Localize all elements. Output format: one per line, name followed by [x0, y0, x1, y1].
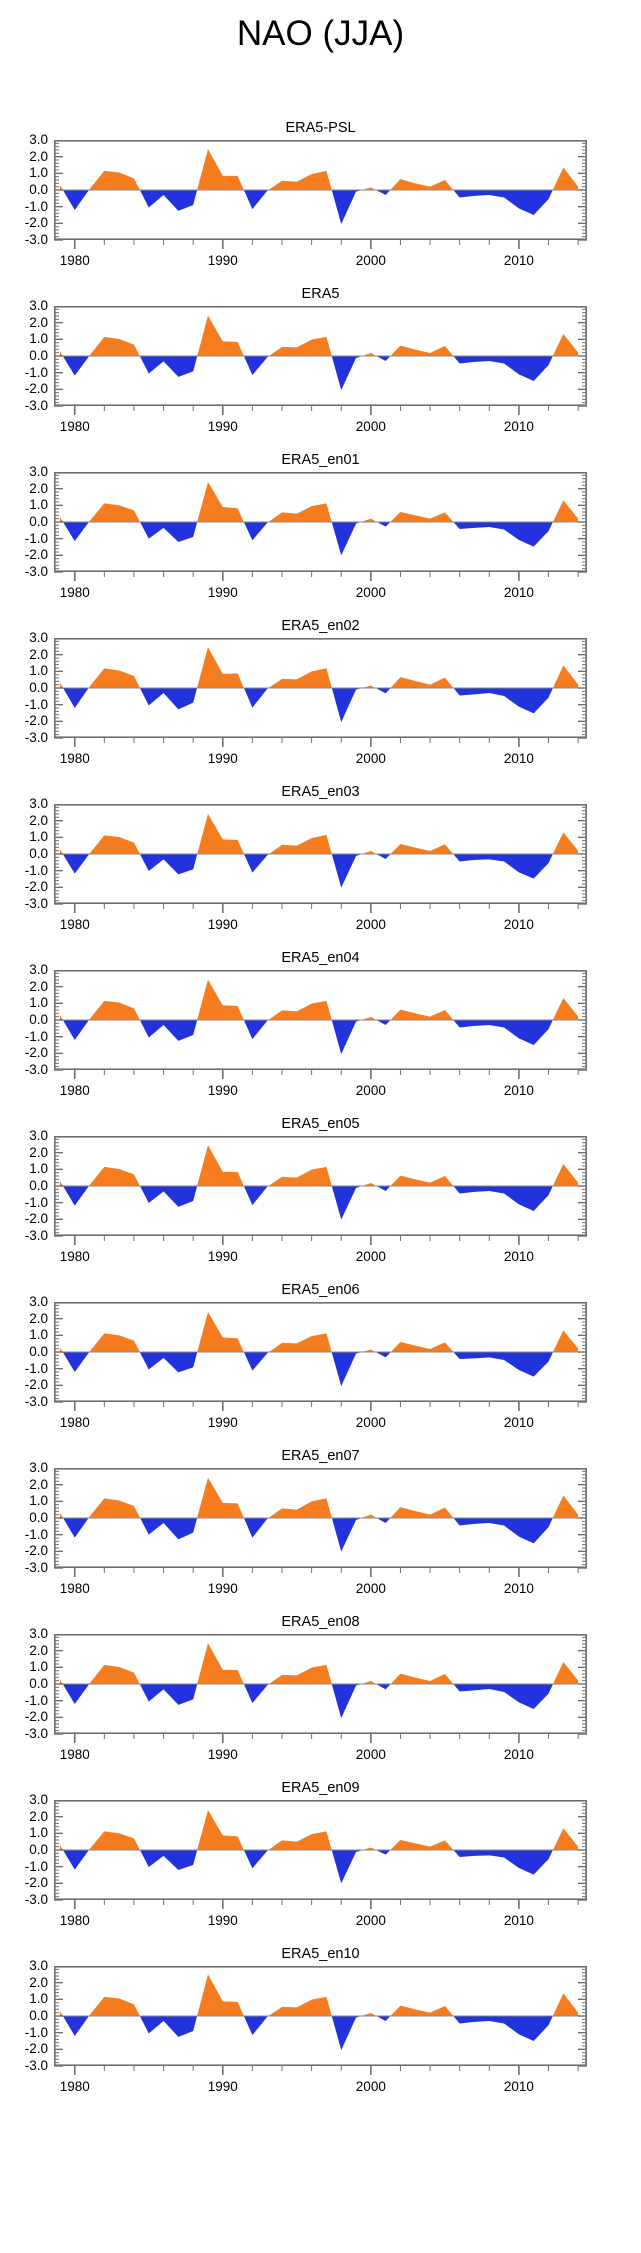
y-tick-label: -1.0 — [0, 366, 48, 379]
y-tick-label: -2.0 — [0, 216, 48, 229]
panel-title: ERA5_en02 — [0, 618, 641, 634]
y-tick-label: 3.0 — [0, 631, 48, 644]
x-tick-label: 2000 — [341, 586, 401, 600]
x-tick-label: 1990 — [193, 1416, 253, 1430]
y-tick-label: -3.0 — [0, 897, 48, 910]
y-tick-label: -2.0 — [0, 382, 48, 395]
timeseries-panel: ERA5-PSL3.02.01.00.0-1.0-2.0-3.019801990… — [0, 120, 641, 280]
plot-area: 3.02.01.00.0-1.0-2.0-3.01980199020002010 — [0, 140, 641, 280]
y-tick-label: 1.0 — [0, 830, 48, 843]
y-tick-label: 1.0 — [0, 1328, 48, 1341]
panel-title: ERA5_en04 — [0, 950, 641, 966]
plot-area: 3.02.01.00.0-1.0-2.0-3.01980199020002010 — [0, 1966, 641, 2106]
timeseries-panel: ERA5_en103.02.01.00.0-1.0-2.0-3.01980199… — [0, 1946, 641, 2106]
x-tick-label: 1990 — [193, 2080, 253, 2094]
y-tick-label: -2.0 — [0, 714, 48, 727]
x-tick-label: 1980 — [45, 1914, 105, 1928]
panel-title: ERA5_en08 — [0, 1614, 641, 1630]
x-tick-label: 1990 — [193, 1084, 253, 1098]
y-tick-label: 2.0 — [0, 1976, 48, 1989]
y-tick-label: -1.0 — [0, 2026, 48, 2039]
timeseries-panel: ERA53.02.01.00.0-1.0-2.0-3.0198019902000… — [0, 286, 641, 446]
timeseries-panel: ERA5_en093.02.01.00.0-1.0-2.0-3.01980199… — [0, 1780, 641, 1940]
y-tick-label: -3.0 — [0, 1063, 48, 1076]
timeseries-panel: ERA5_en063.02.01.00.0-1.0-2.0-3.01980199… — [0, 1282, 641, 1442]
y-tick-label: 2.0 — [0, 1312, 48, 1325]
x-tick-label: 2000 — [341, 752, 401, 766]
y-tick-label: -3.0 — [0, 399, 48, 412]
x-tick-label: 1980 — [45, 2080, 105, 2094]
panel-title: ERA5_en07 — [0, 1448, 641, 1464]
x-tick-label: 1990 — [193, 1748, 253, 1762]
panel-title: ERA5_en03 — [0, 784, 641, 800]
y-tick-label: 2.0 — [0, 1644, 48, 1657]
y-tick-label: -2.0 — [0, 548, 48, 561]
y-tick-label: -3.0 — [0, 1893, 48, 1906]
x-tick-label: 1990 — [193, 1250, 253, 1264]
x-tick-label: 1990 — [193, 1582, 253, 1596]
y-tick-label: -1.0 — [0, 1030, 48, 1043]
x-tick-label: 2010 — [489, 1416, 549, 1430]
x-tick-label: 2000 — [341, 1250, 401, 1264]
y-tick-label: 0.0 — [0, 1345, 48, 1358]
y-tick-label: -2.0 — [0, 1212, 48, 1225]
x-tick-label: 2010 — [489, 752, 549, 766]
y-tick-label: -3.0 — [0, 1395, 48, 1408]
x-tick-label: 2010 — [489, 420, 549, 434]
plot-area: 3.02.01.00.0-1.0-2.0-3.01980199020002010 — [0, 970, 641, 1110]
y-tick-label: 0.0 — [0, 681, 48, 694]
x-tick-label: 2010 — [489, 586, 549, 600]
y-tick-label: -1.0 — [0, 200, 48, 213]
y-tick-label: -3.0 — [0, 565, 48, 578]
y-tick-label: 1.0 — [0, 1162, 48, 1175]
y-tick-label: 2.0 — [0, 1810, 48, 1823]
plot-area: 3.02.01.00.0-1.0-2.0-3.01980199020002010 — [0, 1136, 641, 1276]
panel-title: ERA5_en01 — [0, 452, 641, 468]
x-tick-label: 2000 — [341, 254, 401, 268]
x-tick-label: 2000 — [341, 2080, 401, 2094]
plot-area: 3.02.01.00.0-1.0-2.0-3.01980199020002010 — [0, 804, 641, 944]
panel-title: ERA5_en06 — [0, 1282, 641, 1298]
x-tick-label: 1980 — [45, 1582, 105, 1596]
y-tick-label: -2.0 — [0, 1710, 48, 1723]
y-tick-label: 3.0 — [0, 299, 48, 312]
y-tick-label: -2.0 — [0, 1046, 48, 1059]
x-tick-label: 1980 — [45, 752, 105, 766]
x-tick-label: 1990 — [193, 420, 253, 434]
y-tick-label: 1.0 — [0, 996, 48, 1009]
x-tick-label: 1990 — [193, 586, 253, 600]
panel-title: ERA5_en09 — [0, 1780, 641, 1796]
plot-area: 3.02.01.00.0-1.0-2.0-3.01980199020002010 — [0, 638, 641, 778]
plot-area: 3.02.01.00.0-1.0-2.0-3.01980199020002010 — [0, 472, 641, 612]
x-tick-label: 2010 — [489, 254, 549, 268]
y-tick-label: -1.0 — [0, 698, 48, 711]
timeseries-panel: ERA5_en013.02.01.00.0-1.0-2.0-3.01980199… — [0, 452, 641, 612]
timeseries-panel: ERA5_en023.02.01.00.0-1.0-2.0-3.01980199… — [0, 618, 641, 778]
y-tick-label: 0.0 — [0, 1179, 48, 1192]
y-tick-label: -1.0 — [0, 532, 48, 545]
y-tick-label: -1.0 — [0, 1196, 48, 1209]
plot-area: 3.02.01.00.0-1.0-2.0-3.01980199020002010 — [0, 1302, 641, 1442]
y-tick-label: 1.0 — [0, 498, 48, 511]
x-tick-label: 1990 — [193, 254, 253, 268]
y-tick-label: -3.0 — [0, 731, 48, 744]
x-tick-label: 2010 — [489, 1748, 549, 1762]
y-tick-label: 0.0 — [0, 847, 48, 860]
x-tick-label: 2010 — [489, 2080, 549, 2094]
y-tick-label: 1.0 — [0, 166, 48, 179]
x-tick-label: 1980 — [45, 1416, 105, 1430]
panel-title: ERA5_en10 — [0, 1946, 641, 1962]
y-tick-label: -2.0 — [0, 1876, 48, 1889]
y-tick-label: 3.0 — [0, 133, 48, 146]
plot-area: 3.02.01.00.0-1.0-2.0-3.01980199020002010 — [0, 1800, 641, 1940]
y-tick-label: 0.0 — [0, 1843, 48, 1856]
timeseries-panel: ERA5_en043.02.01.00.0-1.0-2.0-3.01980199… — [0, 950, 641, 1110]
y-tick-label: -2.0 — [0, 1544, 48, 1557]
y-tick-label: 1.0 — [0, 664, 48, 677]
timeseries-panel: ERA5_en053.02.01.00.0-1.0-2.0-3.01980199… — [0, 1116, 641, 1276]
timeseries-panel: ERA5_en083.02.01.00.0-1.0-2.0-3.01980199… — [0, 1614, 641, 1774]
panel-title: ERA5 — [0, 286, 641, 302]
x-tick-label: 2000 — [341, 1084, 401, 1098]
x-tick-label: 2000 — [341, 1582, 401, 1596]
y-tick-label: 2.0 — [0, 648, 48, 661]
x-tick-label: 2010 — [489, 1250, 549, 1264]
y-tick-label: 3.0 — [0, 1793, 48, 1806]
plot-area: 3.02.01.00.0-1.0-2.0-3.01980199020002010 — [0, 306, 641, 446]
y-tick-label: 3.0 — [0, 1959, 48, 1972]
x-tick-label: 1990 — [193, 918, 253, 932]
x-tick-label: 1990 — [193, 752, 253, 766]
y-tick-label: -2.0 — [0, 880, 48, 893]
plot-area: 3.02.01.00.0-1.0-2.0-3.01980199020002010 — [0, 1634, 641, 1774]
timeseries-panel: ERA5_en033.02.01.00.0-1.0-2.0-3.01980199… — [0, 784, 641, 944]
y-tick-label: 0.0 — [0, 183, 48, 196]
y-tick-label: -2.0 — [0, 1378, 48, 1391]
y-tick-label: 1.0 — [0, 1660, 48, 1673]
y-tick-label: -2.0 — [0, 2042, 48, 2055]
x-tick-label: 2010 — [489, 918, 549, 932]
y-tick-label: 3.0 — [0, 1295, 48, 1308]
y-tick-label: 1.0 — [0, 1992, 48, 2005]
y-tick-label: 0.0 — [0, 1013, 48, 1026]
panel-title: ERA5_en05 — [0, 1116, 641, 1132]
x-tick-label: 2000 — [341, 1748, 401, 1762]
y-tick-label: 3.0 — [0, 1129, 48, 1142]
x-tick-label: 1980 — [45, 420, 105, 434]
y-tick-label: 3.0 — [0, 963, 48, 976]
y-tick-label: -1.0 — [0, 1362, 48, 1375]
figure-canvas: NAO (JJA) ERA5-PSL3.02.01.00.0-1.0-2.0-3… — [0, 0, 641, 2253]
x-tick-label: 1990 — [193, 1914, 253, 1928]
x-tick-label: 2010 — [489, 1084, 549, 1098]
x-tick-label: 2000 — [341, 1416, 401, 1430]
y-tick-label: 2.0 — [0, 1146, 48, 1159]
x-tick-label: 1980 — [45, 1084, 105, 1098]
x-tick-label: 1980 — [45, 1748, 105, 1762]
panel-title: ERA5-PSL — [0, 120, 641, 136]
y-tick-label: 3.0 — [0, 1627, 48, 1640]
x-tick-label: 1980 — [45, 586, 105, 600]
y-tick-label: -3.0 — [0, 1561, 48, 1574]
y-tick-label: -3.0 — [0, 1229, 48, 1242]
y-tick-label: 2.0 — [0, 482, 48, 495]
y-tick-label: 1.0 — [0, 332, 48, 345]
x-tick-label: 1980 — [45, 918, 105, 932]
y-tick-label: -1.0 — [0, 864, 48, 877]
y-tick-label: 1.0 — [0, 1826, 48, 1839]
y-tick-label: 0.0 — [0, 2009, 48, 2022]
x-tick-label: 1980 — [45, 1250, 105, 1264]
y-tick-label: 2.0 — [0, 150, 48, 163]
y-tick-label: -1.0 — [0, 1528, 48, 1541]
x-tick-label: 2000 — [341, 420, 401, 434]
y-tick-label: 3.0 — [0, 1461, 48, 1474]
y-tick-label: -3.0 — [0, 233, 48, 246]
y-tick-label: 2.0 — [0, 316, 48, 329]
y-tick-label: 3.0 — [0, 797, 48, 810]
timeseries-panel: ERA5_en073.02.01.00.0-1.0-2.0-3.01980199… — [0, 1448, 641, 1608]
y-tick-label: 0.0 — [0, 1511, 48, 1524]
y-tick-label: 0.0 — [0, 515, 48, 528]
y-tick-label: -1.0 — [0, 1694, 48, 1707]
x-tick-label: 2000 — [341, 1914, 401, 1928]
x-tick-label: 2000 — [341, 918, 401, 932]
y-tick-label: 3.0 — [0, 465, 48, 478]
y-tick-label: -3.0 — [0, 2059, 48, 2072]
y-tick-label: 2.0 — [0, 1478, 48, 1491]
x-tick-label: 2010 — [489, 1914, 549, 1928]
y-tick-label: 2.0 — [0, 814, 48, 827]
y-tick-label: 0.0 — [0, 349, 48, 362]
plot-area: 3.02.01.00.0-1.0-2.0-3.01980199020002010 — [0, 1468, 641, 1608]
figure-title: NAO (JJA) — [0, 13, 641, 55]
x-tick-label: 1980 — [45, 254, 105, 268]
y-tick-label: -3.0 — [0, 1727, 48, 1740]
x-tick-label: 2010 — [489, 1582, 549, 1596]
y-tick-label: 0.0 — [0, 1677, 48, 1690]
y-tick-label: 1.0 — [0, 1494, 48, 1507]
y-tick-label: 2.0 — [0, 980, 48, 993]
y-tick-label: -1.0 — [0, 1860, 48, 1873]
